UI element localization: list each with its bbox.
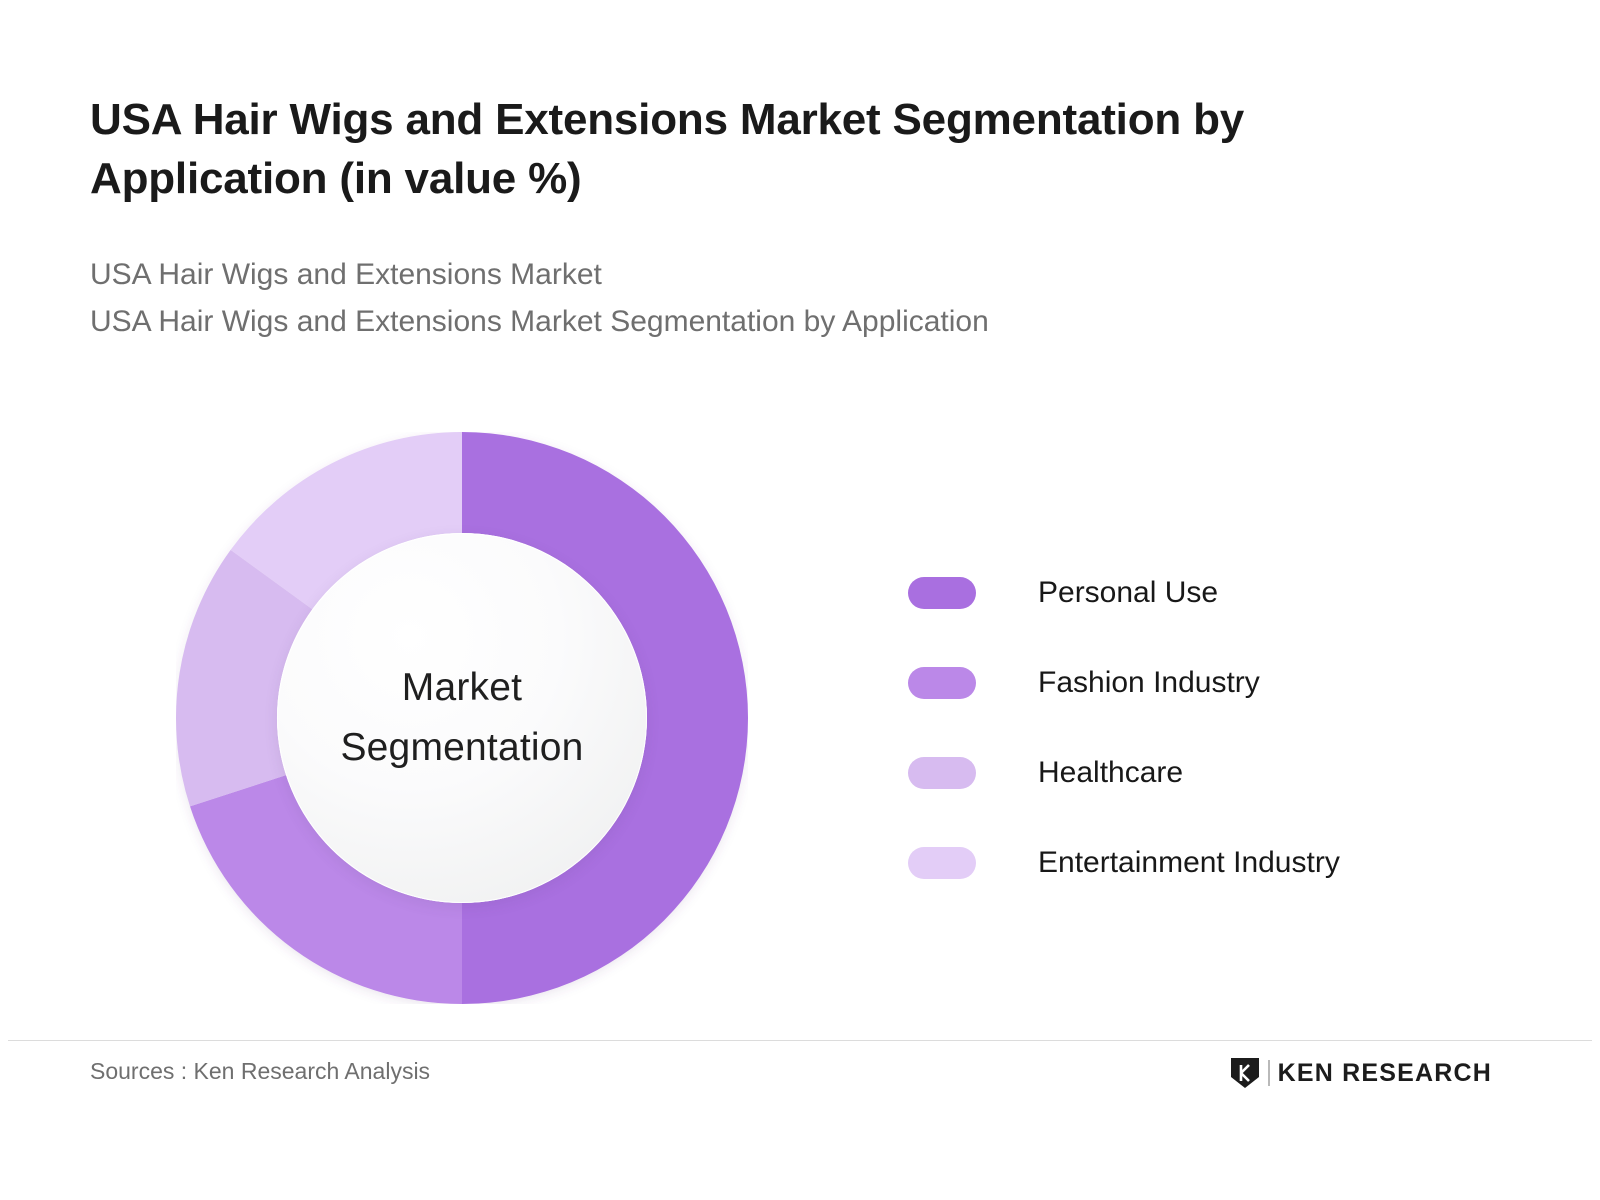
chart-legend: Personal UseFashion IndustryHealthcareEn… [908,548,1468,908]
legend-swatch-icon [908,847,976,879]
footer-divider [8,1040,1592,1041]
brand-logo: KEN RESEARCH [1230,1056,1492,1090]
legend-item-label: Healthcare [1038,756,1183,790]
chart-area: Market Segmentation Personal UseFashion … [0,380,1600,1040]
legend-swatch-icon [908,577,976,609]
center-label-line-1: Market [402,658,522,718]
legend-swatch-icon [908,667,976,699]
legend-swatch-icon [908,757,976,789]
legend-item-label: Entertainment Industry [1038,846,1340,880]
center-label-line-2: Segmentation [340,718,583,778]
legend-item-label: Personal Use [1038,576,1218,610]
legend-item[interactable]: Personal Use [908,548,1468,638]
ken-research-shield-icon [1230,1057,1260,1089]
subtitle-block: USA Hair Wigs and Extensions Market USA … [90,252,1390,345]
legend-item-label: Fashion Industry [1038,666,1260,700]
slide-canvas: USA Hair Wigs and Extensions Market Segm… [0,0,1600,1200]
donut-chart: Market Segmentation [176,432,748,1004]
donut-center-label: Market Segmentation [277,533,647,903]
brand-separator [1268,1060,1270,1086]
legend-item[interactable]: Fashion Industry [908,638,1468,728]
page-title: USA Hair Wigs and Extensions Market Segm… [90,91,1490,208]
legend-item[interactable]: Healthcare [908,728,1468,818]
subtitle-line-1: USA Hair Wigs and Extensions Market [90,252,1390,299]
brand-name: KEN RESEARCH [1278,1059,1492,1088]
subtitle-line-2: USA Hair Wigs and Extensions Market Segm… [90,299,1390,346]
legend-item[interactable]: Entertainment Industry [908,818,1468,908]
source-note: Sources : Ken Research Analysis [90,1058,430,1085]
